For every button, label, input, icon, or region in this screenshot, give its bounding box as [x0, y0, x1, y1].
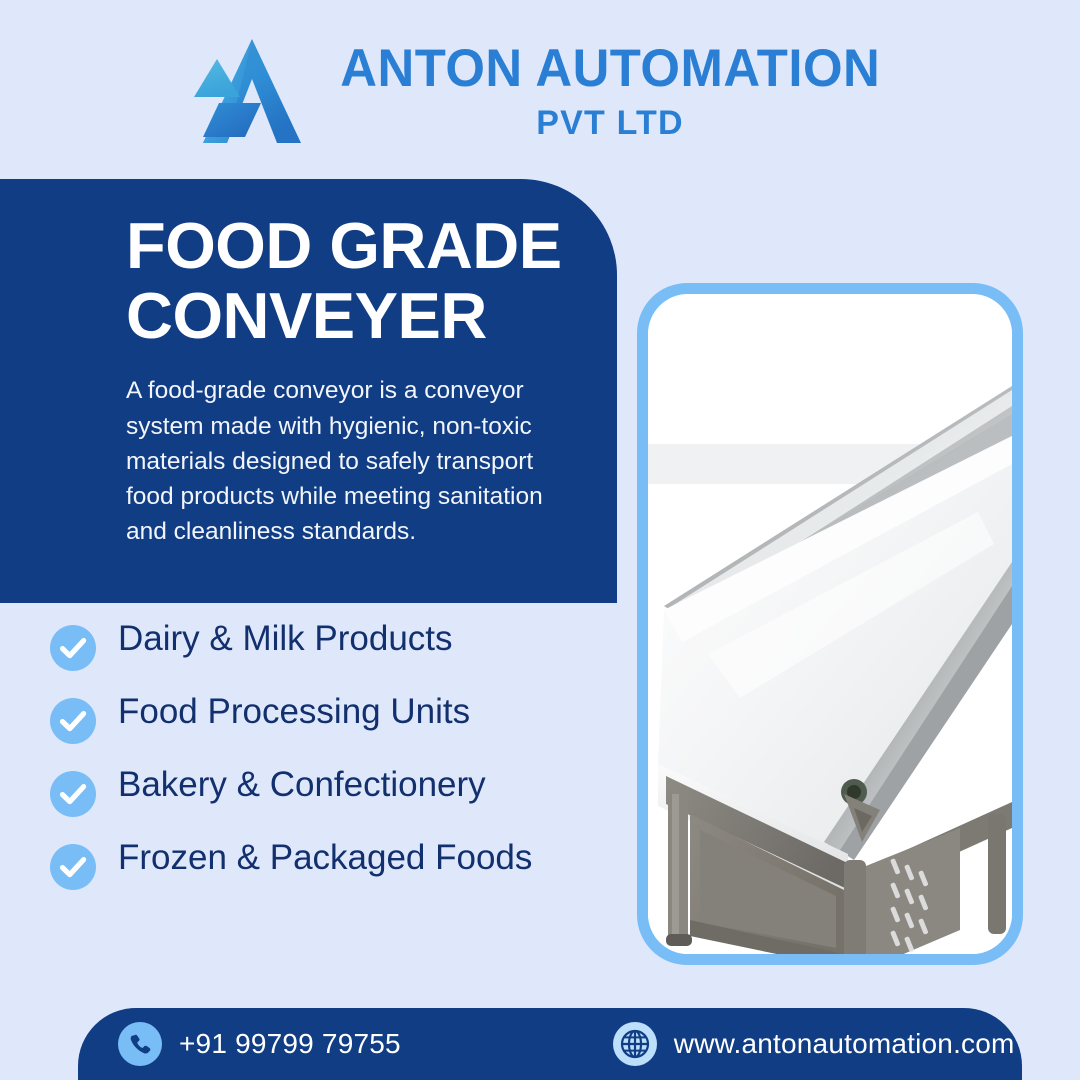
contact-bar: +91 99799 79755 www.antonautomation.com — [78, 1008, 1022, 1080]
website-url: www.antonautomation.com — [674, 1028, 1015, 1060]
phone-icon — [118, 1022, 162, 1066]
headline-panel: FOOD GRADE CONVEYER A food-grade conveyo… — [0, 179, 617, 603]
anton-a-logo-icon — [189, 31, 307, 149]
feature-list: Dairy & Milk Products Food Processing Un… — [50, 618, 625, 910]
globe-icon — [613, 1022, 657, 1066]
list-item: Bakery & Confectionery — [50, 764, 625, 817]
contact-website[interactable]: www.antonautomation.com — [613, 1022, 1015, 1066]
check-circle-icon — [50, 844, 96, 890]
list-item: Dairy & Milk Products — [50, 618, 625, 671]
brand-name: ANTON AUTOMATION — [340, 42, 880, 95]
list-item: Frozen & Packaged Foods — [50, 837, 625, 890]
page-title: FOOD GRADE CONVEYER — [126, 211, 581, 351]
feature-label: Dairy & Milk Products — [118, 618, 453, 661]
check-circle-icon — [50, 771, 96, 817]
check-circle-icon — [50, 625, 96, 671]
feature-label: Food Processing Units — [118, 691, 470, 734]
product-image-card — [637, 283, 1023, 965]
check-circle-icon — [50, 698, 96, 744]
phone-number: +91 99799 79755 — [179, 1028, 401, 1060]
feature-label: Bakery & Confectionery — [118, 764, 486, 807]
brand-wordmark: ANTON AUTOMATION PVT LTD — [329, 42, 892, 140]
list-item: Food Processing Units — [50, 691, 625, 744]
brand-subtitle: PVT LTD — [536, 106, 684, 140]
feature-label: Frozen & Packaged Foods — [118, 837, 532, 880]
product-description: A food-grade conveyor is a conveyor syst… — [126, 373, 556, 549]
brand-header: ANTON AUTOMATION PVT LTD — [0, 0, 1080, 179]
contact-phone[interactable]: +91 99799 79755 — [118, 1022, 401, 1066]
poster-canvas: ANTON AUTOMATION PVT LTD FOOD GRADE CONV… — [0, 0, 1080, 1080]
product-photo — [648, 294, 1012, 954]
